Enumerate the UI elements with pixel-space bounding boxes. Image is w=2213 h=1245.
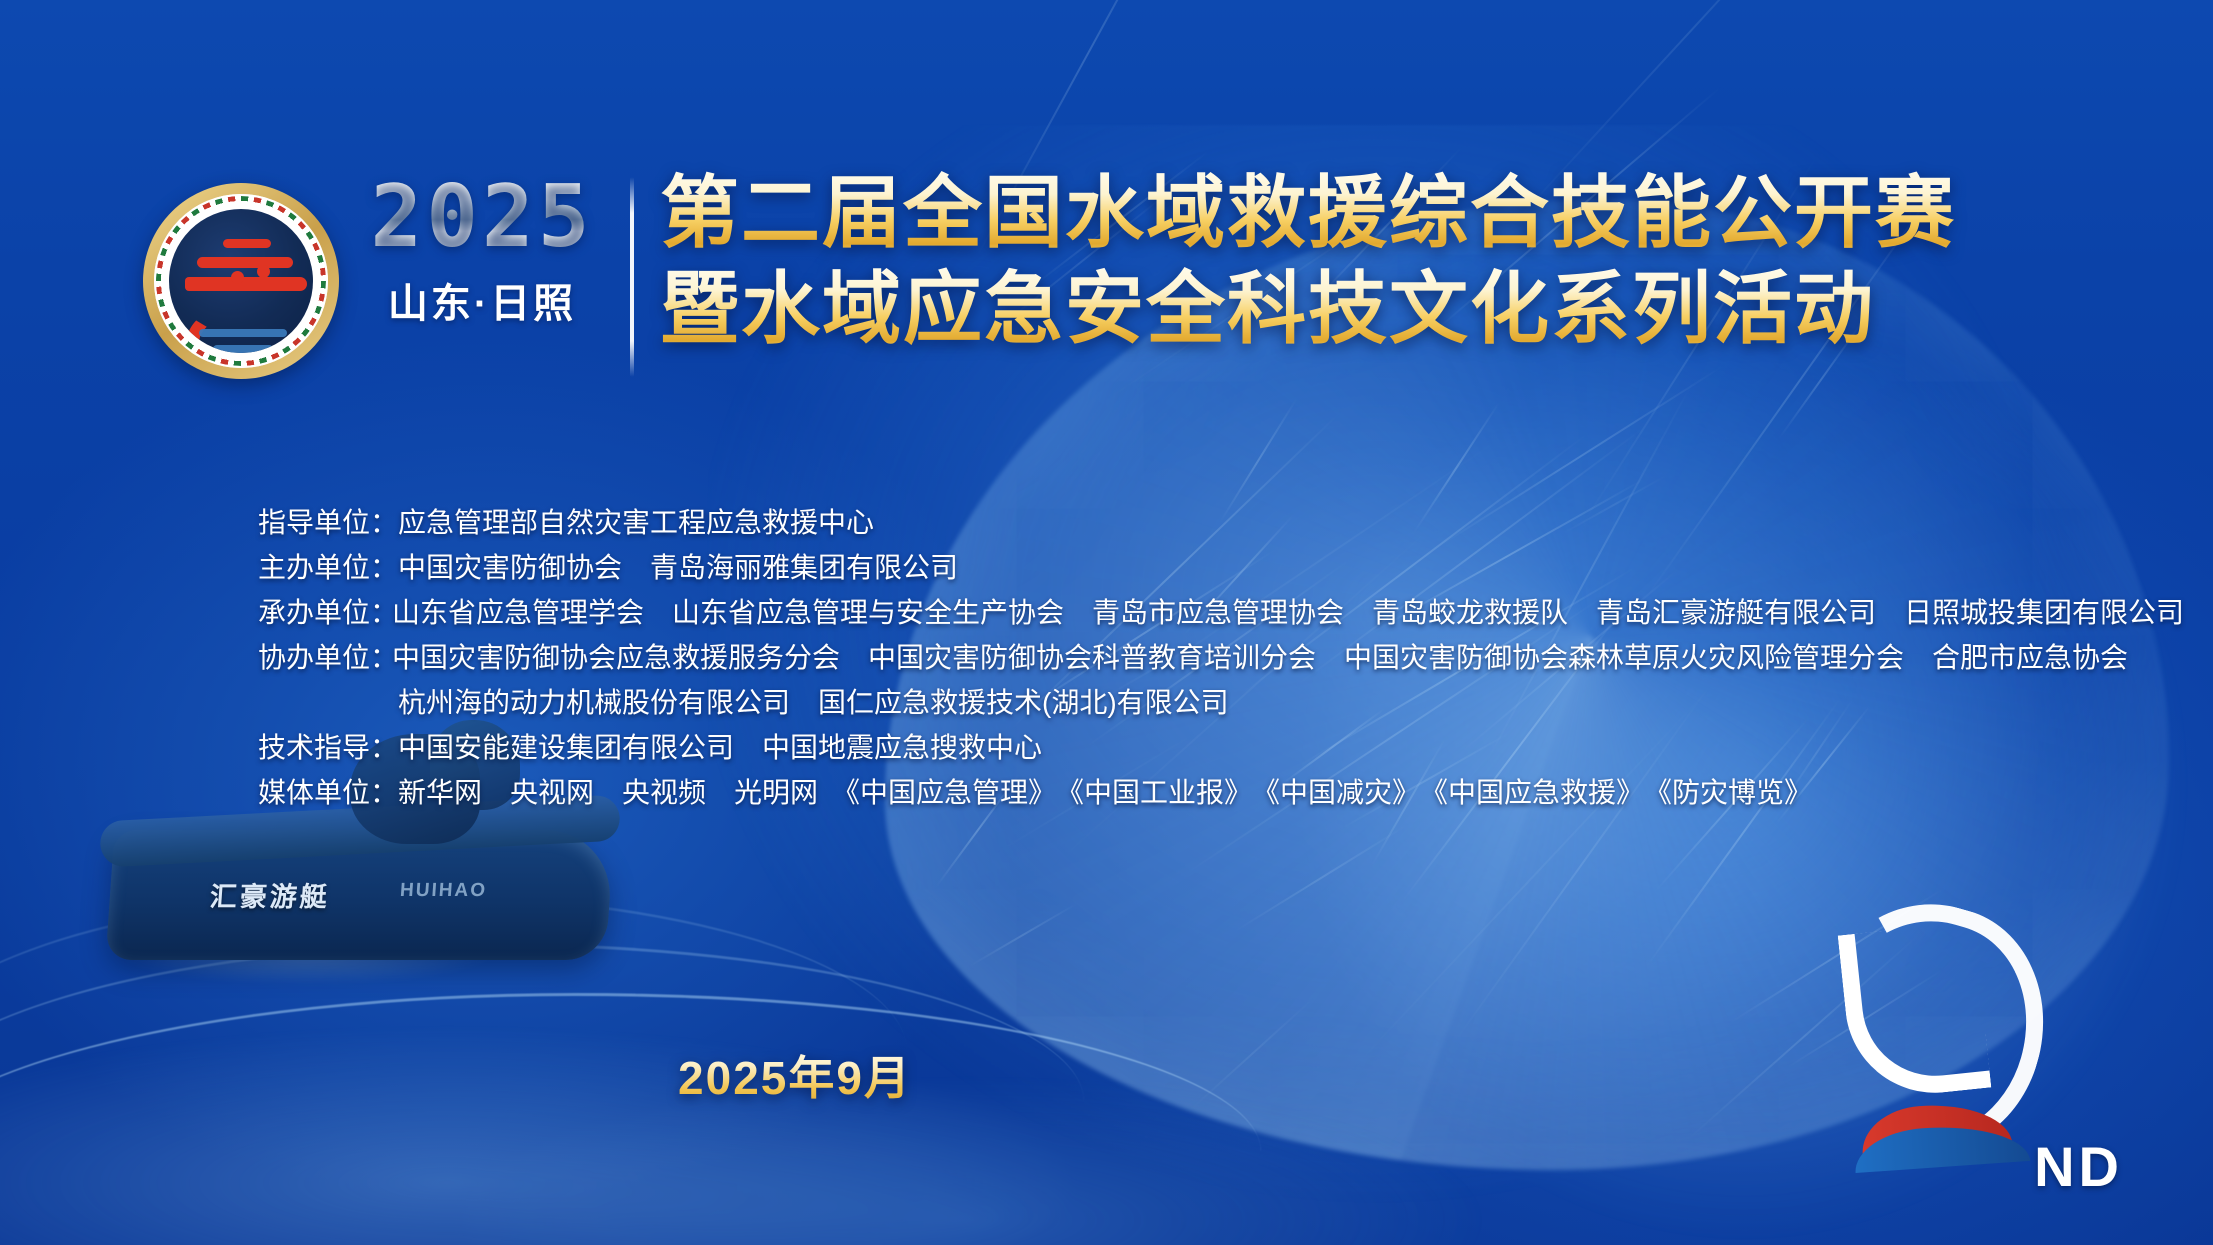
boat-brand-text: 汇豪游艇	[209, 875, 332, 914]
emblem-dot-1	[231, 271, 244, 284]
organizer-row: 技术指导：中国安能建设集团有限公司 中国地震应急搜救中心	[258, 725, 2058, 770]
emblem-wave-2	[213, 345, 273, 353]
second-edition-mark: ND	[1749, 915, 2129, 1215]
event-poster: 汇豪游艇 HUIHAO 2025 山东	[0, 0, 2213, 1245]
organizer-row: 协办单位：杭州海的动力机械股份有限公司 国仁应急救援技术(湖北)有限公司	[258, 680, 2058, 725]
wave-streak	[967, 903, 1078, 969]
boat-hull	[105, 830, 614, 960]
edition-suffix-label: ND	[2034, 1134, 2123, 1199]
organizer-label: 主办单位：	[258, 545, 398, 590]
organizer-value: 山东省应急管理学会 山东省应急管理与安全生产协会 青岛市应急管理协会 青岛蛟龙救…	[392, 590, 2184, 635]
water-rescue-emblem-icon	[143, 183, 339, 379]
emblem-stripe-1	[223, 239, 271, 248]
wave-streak	[1232, 823, 1410, 934]
event-date: 2025年9月	[0, 1042, 1590, 1108]
emblem-container	[143, 183, 339, 379]
poster-header: 2025 山东·日照 第二届全国水域救援综合技能公开赛 暨水域应急安全科技文化系…	[0, 165, 2213, 395]
brand-year: 2025	[362, 177, 602, 259]
organizer-label: 协办单位：	[258, 635, 392, 680]
emblem-wave-1	[199, 329, 287, 337]
organizer-value: 杭州海的动力机械股份有限公司 国仁应急救援技术(湖北)有限公司	[398, 680, 1229, 725]
title-block: 第二届全国水域救援综合技能公开赛 暨水域应急安全科技文化系列活动	[660, 165, 2110, 358]
brand-block: 2025 山东·日照	[362, 177, 602, 329]
organizer-row: 媒体单位：新华网 央视网 央视频 光明网 《中国应急管理》 《中国工业报》 《中…	[258, 770, 2058, 815]
organizer-row: 主办单位：中国灾害防御协会 青岛海丽雅集团有限公司	[258, 545, 2058, 590]
title-line-1: 第二届全国水域救援综合技能公开赛	[660, 165, 2110, 261]
organizer-value: 新华网 央视网 央视频 光明网 《中国应急管理》 《中国工业报》 《中国减灾》 …	[398, 770, 1812, 815]
organizer-row: 承办单位：山东省应急管理学会 山东省应急管理与安全生产协会 青岛市应急管理协会 …	[258, 590, 2058, 635]
organizer-list: 指导单位：应急管理部自然灾害工程应急救援中心主办单位：中国灾害防御协会 青岛海丽…	[258, 500, 2058, 815]
emblem-dot-2	[257, 265, 270, 278]
organizer-value: 中国灾害防御协会应急救援服务分会 中国灾害防御协会科普教育培训分会 中国灾害防御…	[392, 635, 2128, 680]
boat-secondary-text: HUIHAO	[399, 880, 487, 902]
brand-city: 山东·日照	[362, 271, 602, 329]
title-line-2: 暨水域应急安全科技文化系列活动	[660, 261, 2110, 357]
header-divider	[630, 177, 634, 377]
organizer-value: 应急管理部自然灾害工程应急救援中心	[398, 500, 874, 545]
organizer-value: 中国安能建设集团有限公司 中国地震应急搜救中心	[398, 725, 1042, 770]
organizer-row: 指导单位：应急管理部自然灾害工程应急救援中心	[258, 500, 2058, 545]
organizer-label: 媒体单位：	[258, 770, 398, 815]
organizer-value: 中国灾害防御协会 青岛海丽雅集团有限公司	[398, 545, 958, 590]
emblem-disc	[169, 209, 313, 353]
organizer-label: 技术指导：	[258, 725, 398, 770]
organizer-row: 协办单位：中国灾害防御协会应急救援服务分会 中国灾害防御协会科普教育培训分会 中…	[258, 635, 2058, 680]
water-spray	[90, 926, 630, 996]
organizer-label: 指导单位：	[258, 500, 398, 545]
organizer-label: 承办单位：	[258, 590, 392, 635]
emblem-stripe-2	[197, 257, 293, 268]
